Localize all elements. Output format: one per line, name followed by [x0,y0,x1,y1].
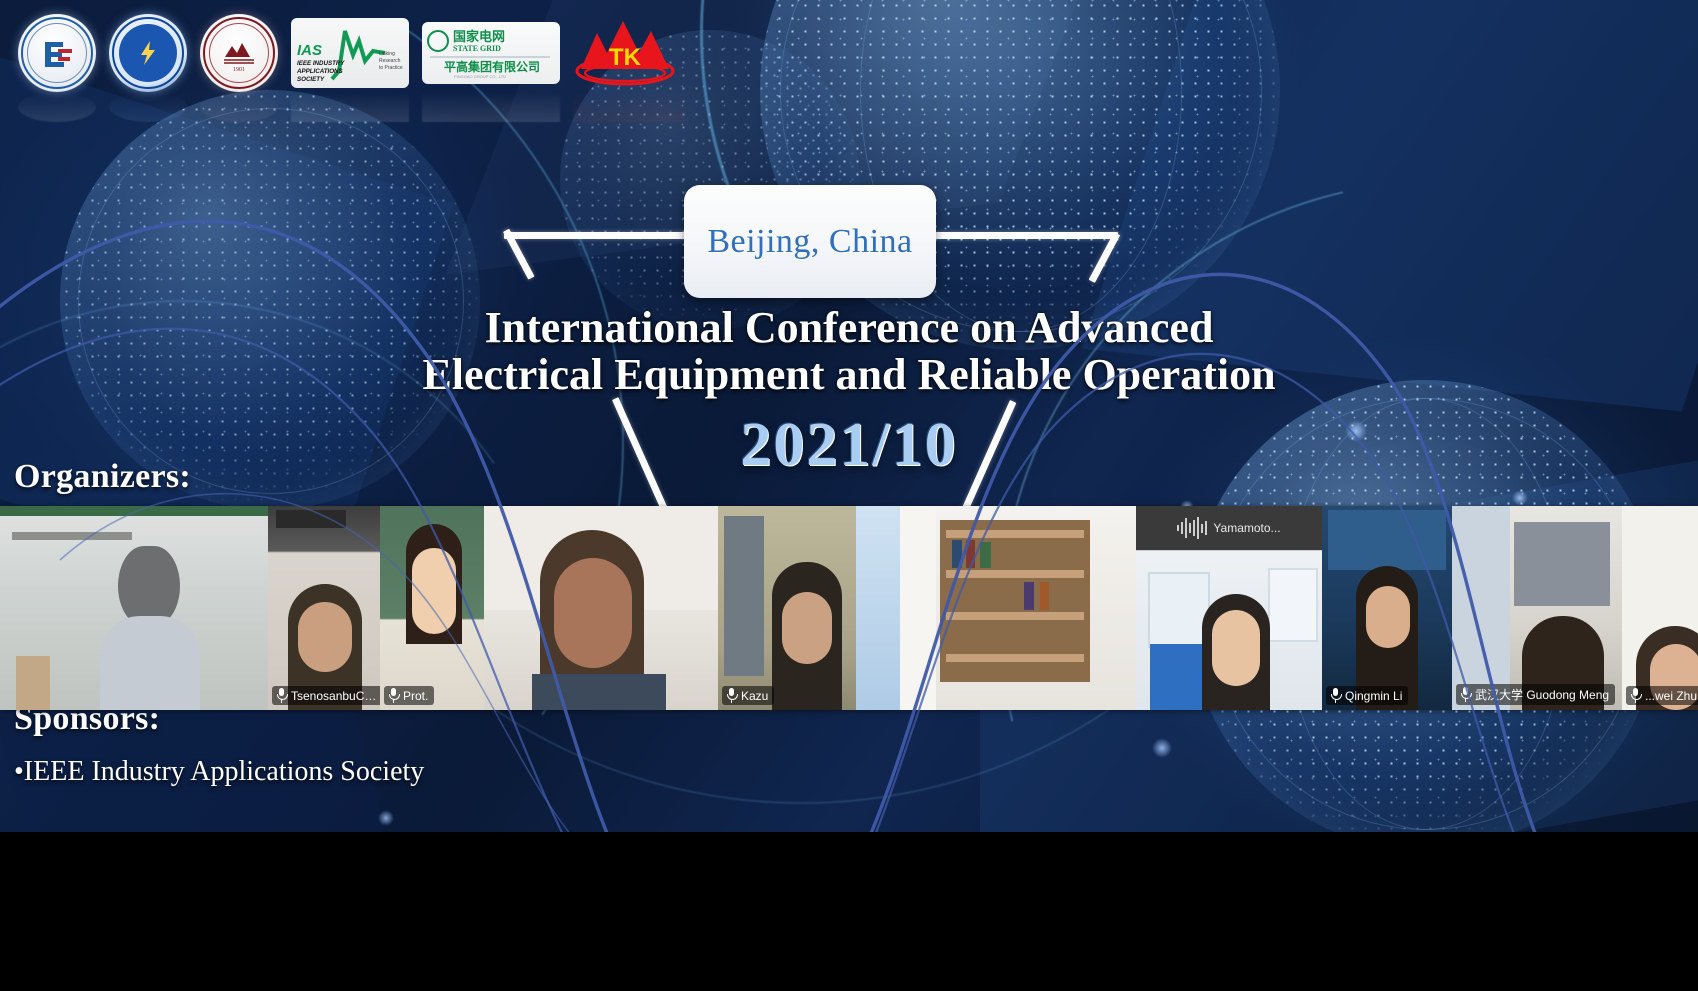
video-decor [980,542,991,568]
lightning-bolt-icon [133,38,163,68]
video-decor [900,506,936,710]
logo-bar: 1901 IAS IEEE INDUSTRY APPLICATIONS SOCI… [18,14,685,92]
video-tile[interactable]: Prot. [380,506,484,710]
microphone-icon [1330,688,1341,703]
video-decor [412,548,456,634]
video-tile[interactable]: 武汉大学 Guodong Meng [1452,506,1622,710]
participant-name-badge: 武汉大学 Guodong Meng [1456,684,1615,705]
title-line-1: International Conference on Advanced [485,303,1214,352]
svg-text:国家电网: 国家电网 [453,29,505,45]
video-tile[interactable]: Kazu [718,506,856,710]
microphone-icon [388,688,399,703]
sponsors-block: Sponsors: •IEEE Industry Applications So… [14,700,424,787]
video-decor [16,656,50,710]
video-decor [946,570,1084,578]
video-decor [298,602,352,672]
video-tile[interactable] [0,506,268,710]
svg-text:平高集团有限公司: 平高集团有限公司 [444,59,540,74]
sponsor-item: •IEEE Industry Applications Society [14,756,424,787]
participant-name: Kazu [741,689,768,703]
video-decor [118,546,180,626]
title-line-2: Electrical Equipment and Reliable Operat… [0,352,1698,399]
svg-text:APPLICATIONS: APPLICATIONS [296,68,343,75]
video-decor [1024,582,1034,610]
city-badge-label: Beijing, China [707,223,912,261]
video-decor [856,506,900,710]
video-participant-strip[interactable]: TsenosanbuChingo Prot. [0,506,1698,710]
light-blob [1512,490,1528,506]
participant-name: 武汉大学 Guodong Meng [1475,686,1609,703]
video-tile[interactable]: Yamamoto... [1136,506,1322,710]
taikai-flame-icon: TK [573,17,685,89]
participant-name: Yamamoto... [1213,521,1280,535]
participant-name: TsenosanbuChingo [291,689,379,703]
participant-name-badge: Yamamoto... [1136,506,1322,550]
video-decor [1366,586,1410,648]
video-decor [532,674,666,710]
video-decor [1148,572,1210,648]
screen-share-slide-view: Beijing, China International Conference … [0,0,1698,991]
video-decor [0,506,268,516]
state-grid-emblem-icon: 国家电网 STATE GRID 平高集团有限公司 PINGGAO GROUP C… [424,25,558,81]
state-grid-pinggao-group-logo: 国家电网 STATE GRID 平高集团有限公司 PINGGAO GROUP C… [422,14,560,92]
participant-name: Qingmin Li [1345,689,1402,703]
video-decor [1150,644,1206,710]
video-decor [554,558,632,668]
svg-text:STATE GRID: STATE GRID [453,44,501,53]
ieee-industry-applications-society-logo: IAS IEEE INDUSTRY APPLICATIONS SOCIETY L… [291,14,409,92]
video-decor [12,532,132,540]
svg-text:SOCIETY: SOCIETY [297,76,325,83]
svg-text:Research: Research [379,58,401,64]
chevron-frame-top-left [504,232,704,292]
video-decor [966,540,975,568]
svg-text:IAS: IAS [297,42,322,59]
ias-waveform-icon: IAS IEEE INDUSTRY APPLICATIONS SOCIETY L… [293,21,407,85]
video-decor [1212,610,1260,686]
video-decor [724,516,764,676]
video-tile[interactable]: TsenosanbuChingo [268,506,380,710]
city-badge: Beijing, China [684,185,936,298]
video-decor [946,612,1084,620]
microphone-icon [1630,688,1641,703]
state-key-laboratory-logo [109,14,187,92]
video-decor [1328,510,1446,570]
svg-text:IEEE INDUSTRY: IEEE INDUSTRY [297,60,345,67]
video-decor [946,654,1084,662]
participant-name-badge: Qingmin Li [1326,686,1408,705]
participant-name: ...wei Zhu [1645,689,1697,703]
microphone-icon [1460,687,1471,702]
participant-name-badge: Prot. [384,686,434,705]
participant-name-badge: Kazu [722,686,774,705]
microphone-icon [276,688,287,703]
microphone-icon [726,688,737,703]
participant-name-badge: ...wei Zhu [1626,686,1698,705]
video-decor [946,530,1084,538]
light-blob [378,810,394,826]
video-tile[interactable] [484,506,718,710]
shandong-university-logo: 1901 [200,14,278,92]
participant-name: Prot. [403,689,428,703]
video-tile[interactable]: ...wei Zhu [1622,506,1698,710]
video-decor [1040,582,1049,610]
letterbox-bar [0,832,1698,991]
svg-text:PINGGAO GROUP CO., LTD: PINGGAO GROUP CO., LTD [454,74,506,79]
video-decor [782,592,832,664]
svg-text:Linking: Linking [379,51,395,57]
svg-text:TK: TK [609,44,642,71]
chevron-frame-top-right [918,232,1118,292]
video-tile[interactable] [856,506,1136,710]
video-decor [100,616,200,710]
video-tile[interactable]: Qingmin Li [1322,506,1452,710]
video-decor [1514,522,1610,606]
north-china-electric-power-university-logo [18,14,96,92]
audio-waveform-icon [1177,516,1207,540]
participant-name-badge: TsenosanbuChingo [272,686,380,705]
video-decor [276,510,346,528]
taikai-group-logo: TK [573,14,685,92]
video-decor [1452,506,1510,710]
svg-text:to Practice: to Practice [379,65,403,71]
organizers-heading: Organizers: [14,458,787,496]
video-decor [952,540,962,568]
light-blob [1152,738,1172,758]
video-decor [1268,568,1318,642]
page-title: International Conference on Advanced Ele… [0,305,1698,398]
